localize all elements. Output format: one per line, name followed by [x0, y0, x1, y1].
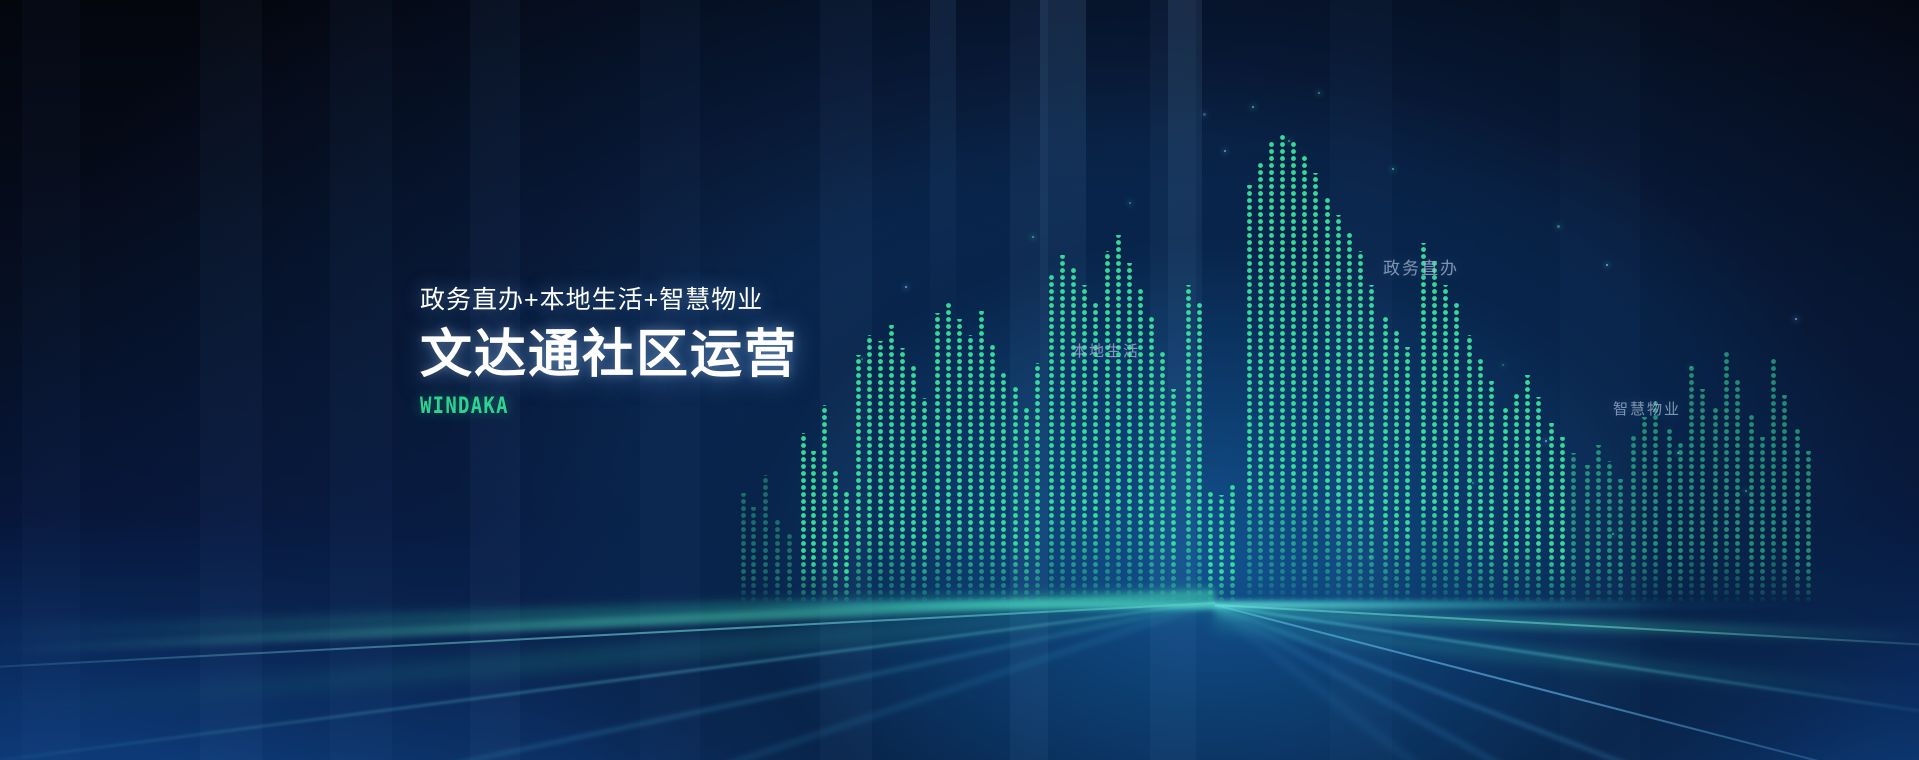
dot-matrix-skyline [0, 0, 1919, 620]
skyline-column [786, 533, 793, 603]
particle-dot [1677, 452, 1679, 454]
skyline-column [1335, 215, 1342, 603]
skyline-column [1453, 303, 1460, 603]
particle-dot [1248, 424, 1250, 426]
skyline-column [762, 475, 769, 603]
skyline-column [1688, 365, 1695, 603]
skyline-column [1699, 389, 1706, 603]
skyline-column [810, 451, 817, 603]
skyline-column [1617, 479, 1624, 603]
skyline-column [1229, 485, 1236, 603]
particle-dot [1690, 366, 1692, 368]
skyline-column [1268, 141, 1275, 603]
particle-dot [1203, 113, 1206, 116]
particle-dot [1288, 140, 1290, 142]
skyline-column [1148, 317, 1155, 603]
hero-subtitle: 政务直办+本地生活+智慧物业 [420, 285, 940, 315]
skyline-column [1794, 429, 1801, 603]
skyline-column [1666, 427, 1673, 603]
skyline-column [1246, 185, 1253, 603]
particle-dot [1318, 92, 1320, 94]
skyline-column [821, 405, 828, 603]
skyline-column [1115, 235, 1122, 603]
skyline-column [1346, 231, 1353, 603]
particle-dot [1502, 364, 1504, 366]
skyline-column [1126, 263, 1133, 603]
skyline-column [921, 398, 928, 603]
particle-dot [1612, 533, 1614, 535]
skyline-column [740, 493, 747, 603]
particle-dot [1472, 482, 1474, 484]
skyline-column [1770, 357, 1777, 603]
skyline-column [1652, 399, 1659, 603]
skyline-column [1000, 371, 1007, 603]
skyline-column [1012, 385, 1019, 603]
particle-dot [1224, 150, 1226, 152]
skyline-column [832, 471, 839, 603]
skyline-column [1641, 417, 1648, 603]
skyline-column [1630, 435, 1637, 603]
skyline-column [1301, 155, 1308, 603]
skyline-column [978, 311, 985, 603]
particle-dot [1795, 318, 1797, 320]
skyline-column [1279, 133, 1286, 603]
skyline-column [1034, 363, 1041, 603]
hero-main-title: 文达通社区运营 [420, 327, 940, 384]
skyline-column [1290, 141, 1297, 603]
skyline-column [750, 507, 757, 603]
skyline-column [1781, 395, 1788, 603]
skyline-column [1548, 423, 1555, 603]
skyline-column [1170, 389, 1177, 603]
skyline-column [1488, 381, 1495, 603]
skyline-column [1748, 415, 1755, 603]
skyline-column [1023, 407, 1030, 603]
skyline-column [1218, 495, 1225, 603]
skyline-column [1104, 251, 1111, 603]
skyline-column [1477, 359, 1484, 603]
skyline-column [945, 303, 952, 603]
skyline-column [1584, 465, 1591, 603]
skyline-column [1513, 393, 1520, 603]
skyline-column [967, 335, 974, 603]
skyline-column [1196, 301, 1203, 603]
skyline-column [1606, 461, 1613, 603]
skyline-column [1357, 251, 1364, 603]
skyline-column [774, 519, 781, 603]
skyline-column [989, 345, 996, 603]
skyline-column [1535, 397, 1542, 603]
particle-dot [1252, 106, 1254, 108]
skyline-column [1677, 443, 1684, 603]
particle-dot [1557, 225, 1560, 228]
skyline-column [1137, 287, 1144, 603]
skyline-column [1404, 347, 1411, 603]
particle-dot [1745, 490, 1747, 492]
skyline-column [843, 491, 850, 603]
skyline-column [1723, 351, 1730, 603]
skyline-column [1324, 197, 1331, 603]
hero-text-block: 政务直办+本地生活+智慧物业 文达通社区运营 WINDAKA [420, 285, 940, 419]
skyline-column [1759, 437, 1766, 603]
skyline-column [1257, 163, 1264, 603]
particle-dot [1606, 264, 1608, 266]
skyline-column [800, 433, 807, 603]
skyline-column [1466, 335, 1473, 603]
skyline-column [1502, 407, 1509, 603]
skyline-column [1081, 285, 1088, 603]
skyline-column [956, 319, 963, 603]
skyline-column [1595, 445, 1602, 603]
skyline-column [1382, 315, 1389, 603]
skyline-column [1420, 243, 1427, 603]
skyline-label-3: 智慧物业 [1613, 398, 1681, 419]
particle-dot [1392, 168, 1394, 170]
skyline-column [1185, 285, 1192, 603]
skyline-label-1: 政务直办 [1383, 254, 1459, 279]
skyline-column [1734, 379, 1741, 603]
skyline-column [1431, 261, 1438, 603]
skyline-column [1159, 351, 1166, 603]
skyline-column [1070, 267, 1077, 603]
skyline-column [1393, 331, 1400, 603]
particle-dot [1369, 556, 1371, 558]
particle-dot [1545, 440, 1547, 442]
banner-stage: 政务直办本地生活智慧物业 政务直办+本地生活+智慧物业 文达通社区运营 WIND… [0, 0, 1919, 760]
skyline-column [1312, 173, 1319, 603]
particle-dot [1032, 236, 1034, 238]
skyline-label-2: 本地生活 [1072, 340, 1140, 361]
skyline-column [1570, 453, 1577, 603]
skyline-column [1805, 451, 1812, 603]
skyline-column [1059, 255, 1066, 603]
skyline-column [1048, 273, 1055, 603]
skyline-column [1712, 407, 1719, 603]
brand-wordmark: WINDAKA [420, 394, 867, 419]
skyline-column [1559, 437, 1566, 603]
skyline-column [1524, 375, 1531, 603]
skyline-column [1442, 285, 1449, 603]
particle-dot [1129, 202, 1131, 204]
